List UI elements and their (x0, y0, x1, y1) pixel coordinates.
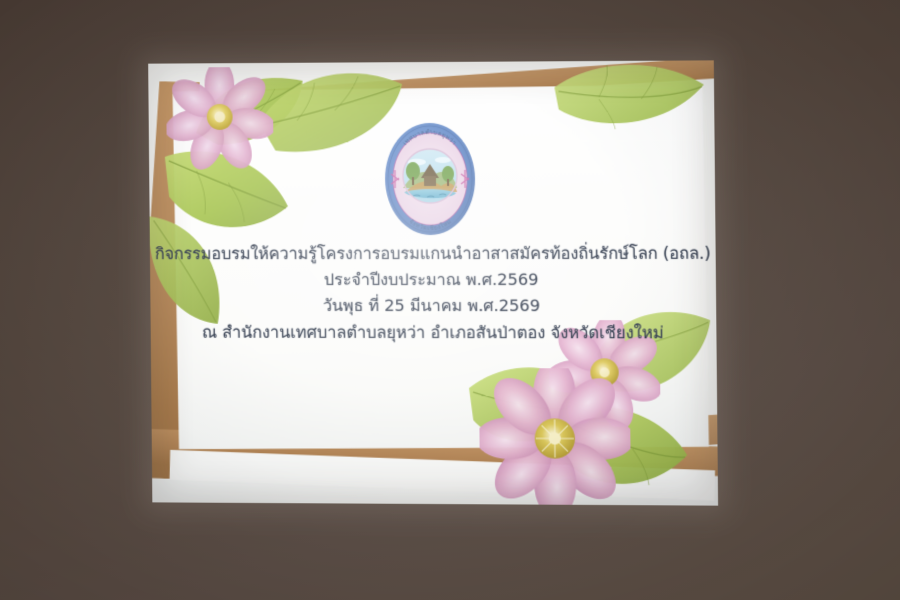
slide-title-line-3: วันพุธ ที่ 25 มีนาคม พ.ศ.2569 (150, 294, 716, 318)
slide-canvas: เทศบาลตำบลยุหว่า จังหวัดเชียงใหม่ กิจกรร… (148, 60, 718, 505)
slide-title-line-1: กิจกรรมอบรมให้ความรู้โครงการอบรมแกนนำอาส… (150, 242, 716, 267)
leaf-top-right-far (554, 60, 706, 137)
room-wall: เทศบาลตำบลยุหว่า จังหวัดเชียงใหม่ กิจกรร… (0, 0, 900, 600)
slide-text-block: กิจกรรมอบรมให้ความรู้โครงการอบรมแกนนำอาส… (150, 242, 717, 346)
projected-slide: เทศบาลตำบลยุหว่า จังหวัดเชียงใหม่ กิจกรร… (148, 60, 718, 505)
slide-title-line-4: ณ สำนักงานเทศบาลตำบลยุหว่า อำเภอสันป่าตอ… (151, 321, 717, 346)
slide-title-line-2: ประจำปีงบประมาณ พ.ศ.2569 (150, 268, 716, 292)
flower-top-left (166, 67, 274, 171)
flower-bottom-right-main (479, 368, 631, 506)
municipality-seal-logo: เทศบาลตำบลยุหว่า จังหวัดเชียงใหม่ (374, 114, 485, 244)
